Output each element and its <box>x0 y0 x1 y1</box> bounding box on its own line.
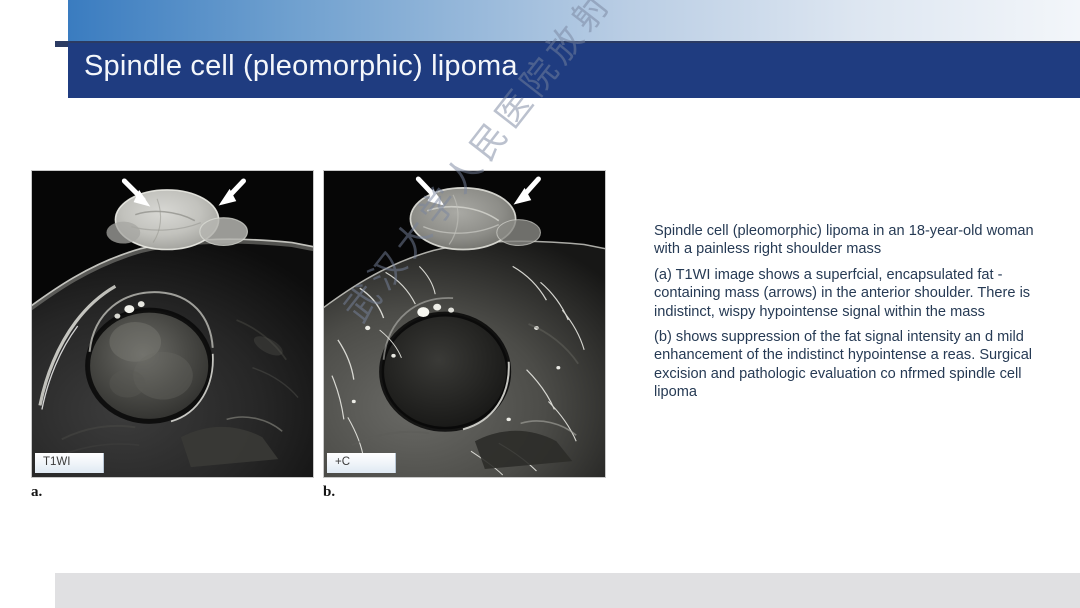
caption-paragraph-panel-b: (b) shows suppression of the fat signal … <box>654 328 1046 402</box>
axial-fat-suppressed-post-contrast-shoulder-mri <box>324 171 605 477</box>
footer-band <box>55 573 1080 608</box>
sequence-label-t1wi: T1WI <box>35 453 104 473</box>
sequence-label-post-contrast: +C <box>327 453 396 473</box>
figure-caption: Spindle cell (pleomorphic) lipoma in an … <box>654 222 1046 402</box>
header-gradient-band <box>68 0 1080 43</box>
caption-paragraph-clinical: Spindle cell (pleomorphic) lipoma in an … <box>654 222 1046 259</box>
header-left-notch <box>0 0 68 43</box>
caption-paragraph-panel-a: (a) T1WI image shows a superfcial, encap… <box>654 266 1046 321</box>
page-title: Spindle cell (pleomorphic) lipoma <box>84 50 984 83</box>
axial-t1-weighted-shoulder-mri <box>32 171 313 477</box>
panel-letter-b: b. <box>323 484 335 501</box>
mri-panel-b: +C <box>323 170 606 478</box>
mri-panel-a: T1WI <box>31 170 314 478</box>
panel-letter-a: a. <box>31 484 42 501</box>
